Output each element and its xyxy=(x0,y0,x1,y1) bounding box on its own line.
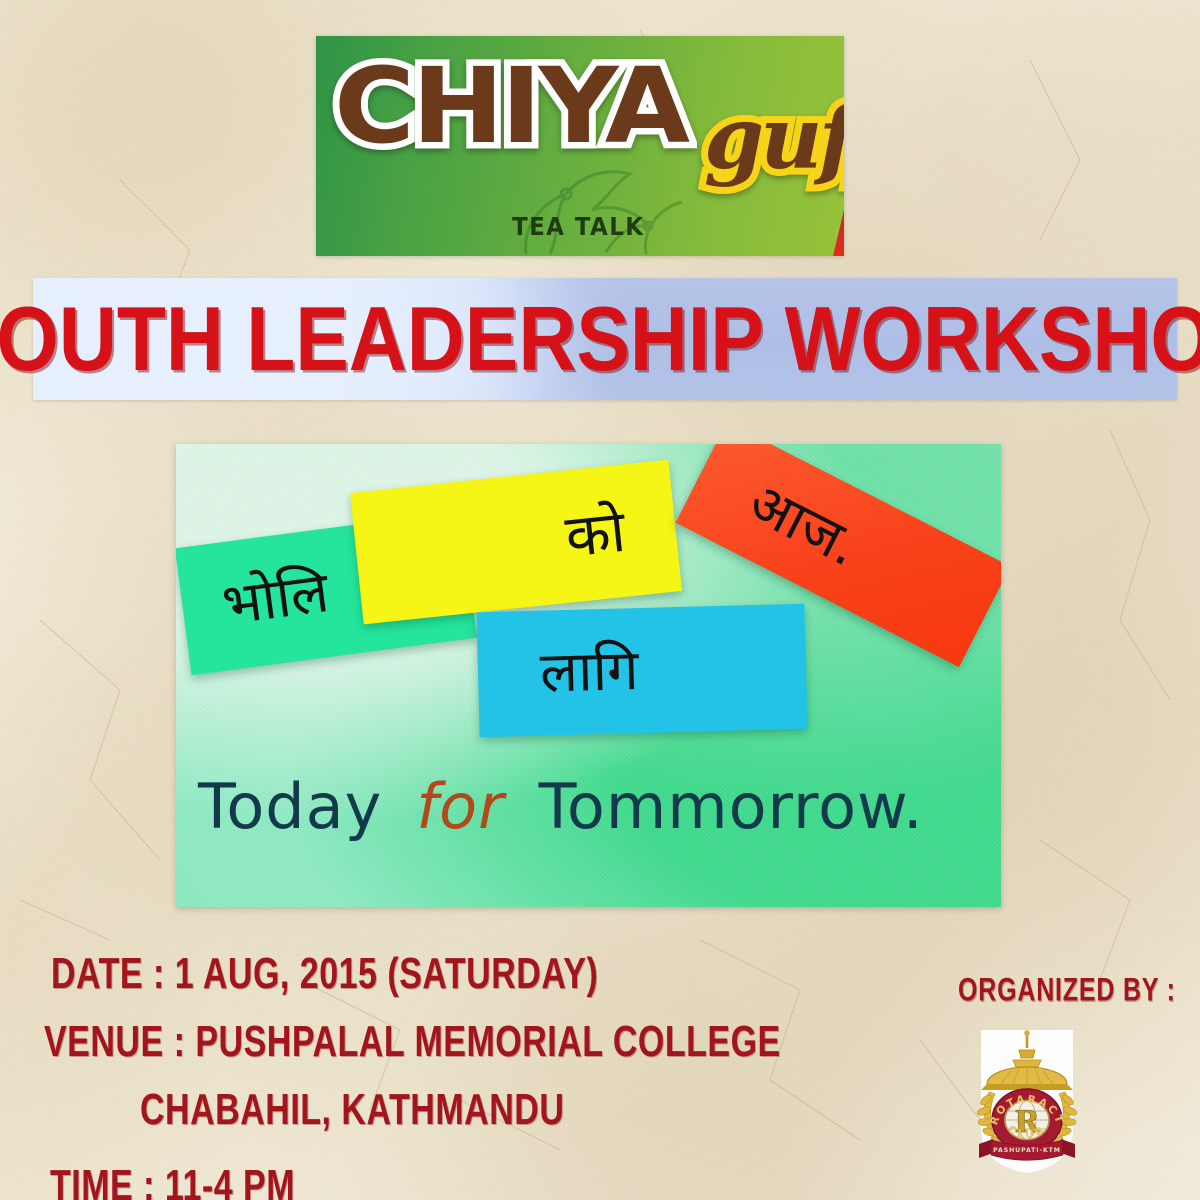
sticky-note-blue-text: लागि xyxy=(539,643,639,702)
handwriting-word-for: for xyxy=(416,770,504,843)
sticky-notes-photo: भोलि को लागि आज. TodayforTommorrow. xyxy=(176,444,1001,907)
chiya-wordmark: CHIYA xyxy=(334,54,764,199)
event-details: DATE : 1 AUG, 2015 (SATURDAY) VENUE : PU… xyxy=(44,952,604,1198)
event-venue: VENUE : PUSHPALAL MEMORIAL COLLEGE xyxy=(44,1020,604,1064)
title-banner: YOUTH LEADERSHIP WORKSHOP xyxy=(33,278,1177,400)
poster-root: CHIYA guff TEA TALK YOUTH LEADERSHIP WOR… xyxy=(0,0,1200,1200)
handwriting-word-today: Today xyxy=(198,770,382,843)
sticky-note-blue: लागि xyxy=(476,604,807,738)
page-title: YOUTH LEADERSHIP WORKSHOP xyxy=(0,288,1200,391)
svg-text:PASHUPATI-KTM: PASHUPATI-KTM xyxy=(993,1147,1061,1154)
red-corner-accent xyxy=(833,210,844,256)
event-time: TIME : 11-4 PM xyxy=(50,1164,604,1200)
sticky-note-yellow-text: को xyxy=(563,502,628,566)
handwriting-word-tomorrow: Tommorrow. xyxy=(539,770,924,843)
guff-script-text: guff xyxy=(704,88,844,189)
organized-by-label: ORGANIZED BY : xyxy=(958,972,1176,1010)
sticky-note-green-text: भोलि xyxy=(219,565,332,634)
event-venue-city: CHABAHIL, KATHMANDU xyxy=(140,1088,604,1132)
event-date: DATE : 1 AUG, 2015 (SATURDAY) xyxy=(51,952,604,996)
chiya-guff-logo-box: CHIYA guff TEA TALK xyxy=(316,36,844,256)
handwritten-tagline: TodayforTommorrow. xyxy=(198,762,988,852)
sticky-note-red-text: आज. xyxy=(741,474,868,575)
sticky-note-yellow: को xyxy=(350,460,682,625)
tea-talk-tagline: TEA TALK xyxy=(512,212,644,241)
rotaract-club-emblem: R ROTARACT CLUB PASHUPATI-KTM xyxy=(963,1022,1091,1177)
